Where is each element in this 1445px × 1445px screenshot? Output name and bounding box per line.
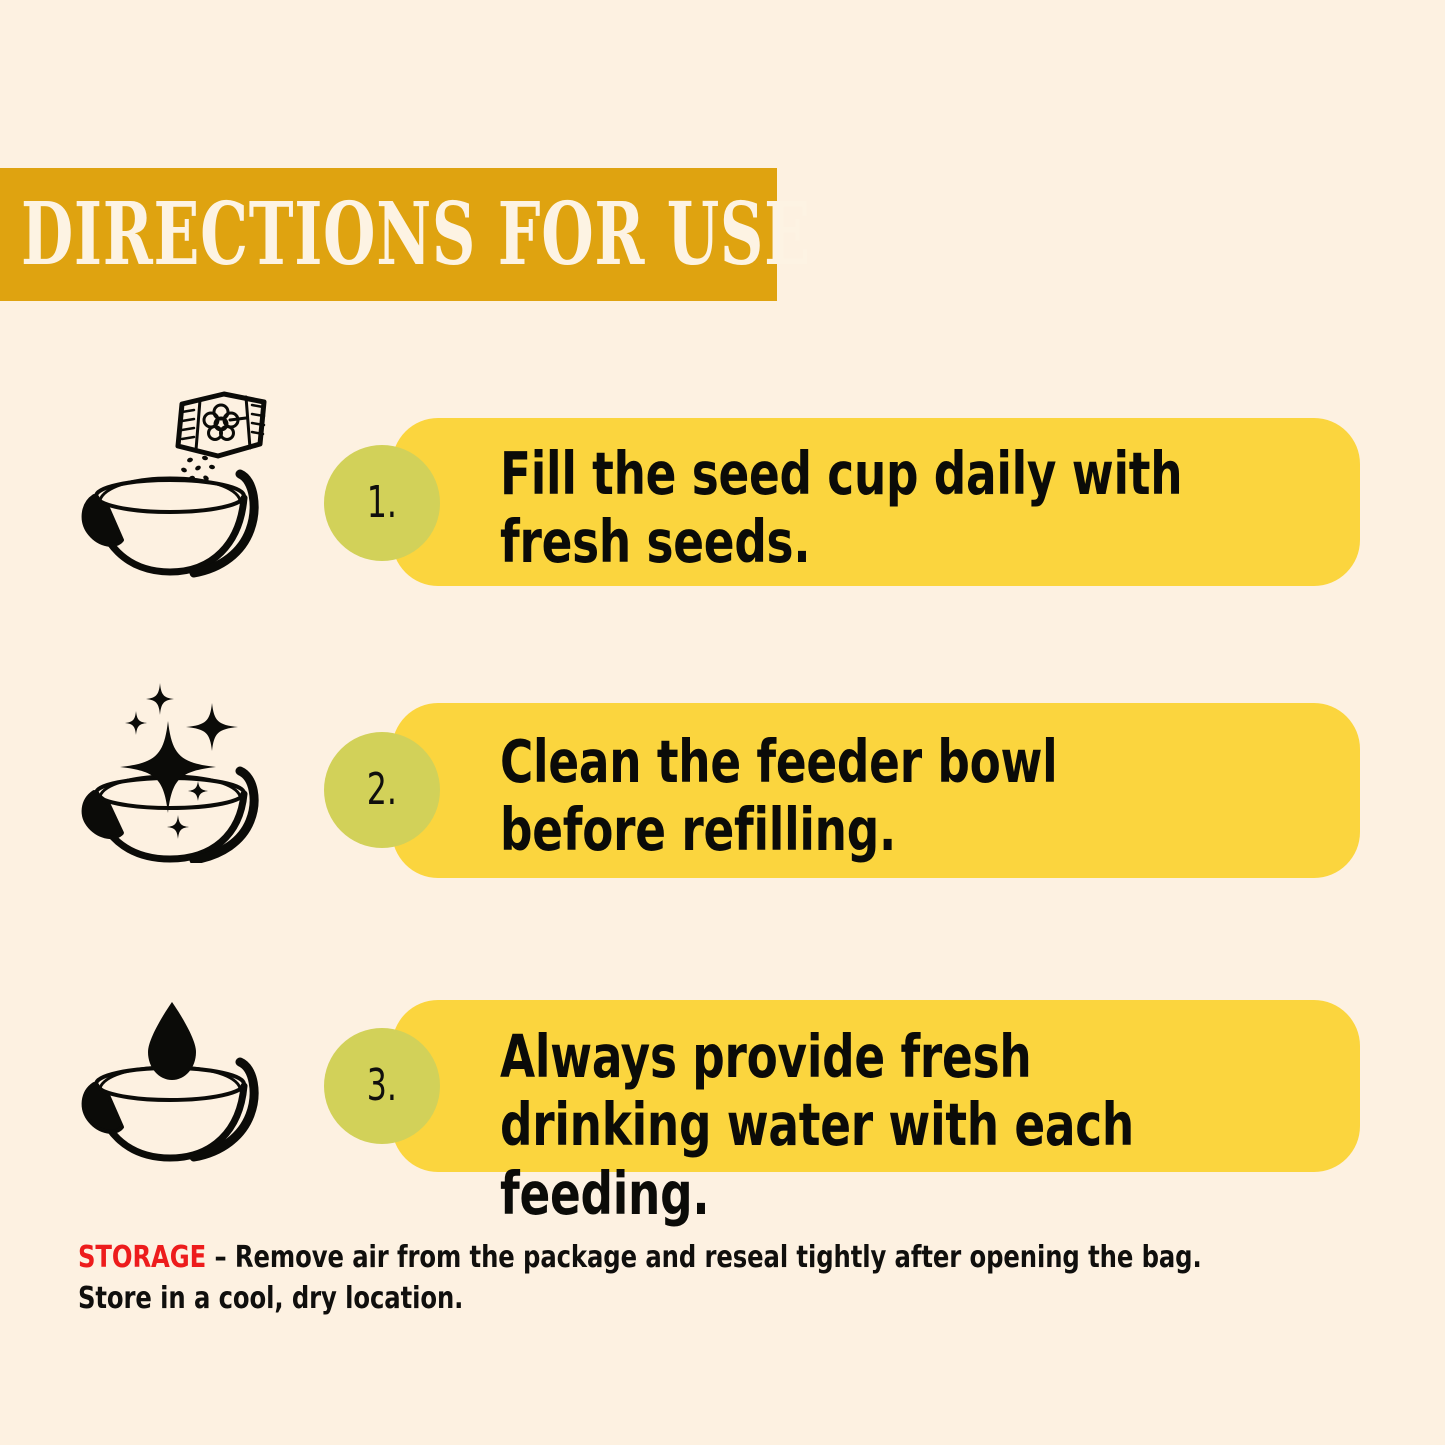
step-text: Fill the seed cup daily with fresh seeds… [500, 440, 1210, 577]
seed-packet-pouring-into-bowl-icon [64, 388, 294, 588]
step-number-badge: 2. [324, 732, 440, 848]
poster-canvas: DIRECTIONS FOR USE [0, 0, 1445, 1445]
step-number: 1. [367, 481, 397, 525]
step-text: Clean the feeder bowl before refilling. [500, 728, 1210, 865]
storage-label: STORAGE [78, 1240, 206, 1275]
step-number-badge: 1. [324, 445, 440, 561]
water-drop-into-bowl-icon [64, 988, 294, 1188]
step-number: 2. [367, 768, 397, 812]
step-number: 3. [367, 1064, 397, 1108]
storage-body: – Remove air from the package and reseal… [78, 1240, 1202, 1316]
step-number-badge: 3. [324, 1028, 440, 1144]
header-banner: DIRECTIONS FOR USE [0, 168, 777, 301]
storage-note: STORAGE – Remove air from the package an… [78, 1238, 1257, 1319]
steps-list: 1. Fill the seed cup daily with fresh se… [0, 380, 1445, 1200]
step-text: Always provide fresh drinking water with… [500, 1023, 1210, 1228]
sparkling-clean-bowl-icon [64, 663, 294, 863]
page-title: DIRECTIONS FOR USE [0, 192, 811, 278]
